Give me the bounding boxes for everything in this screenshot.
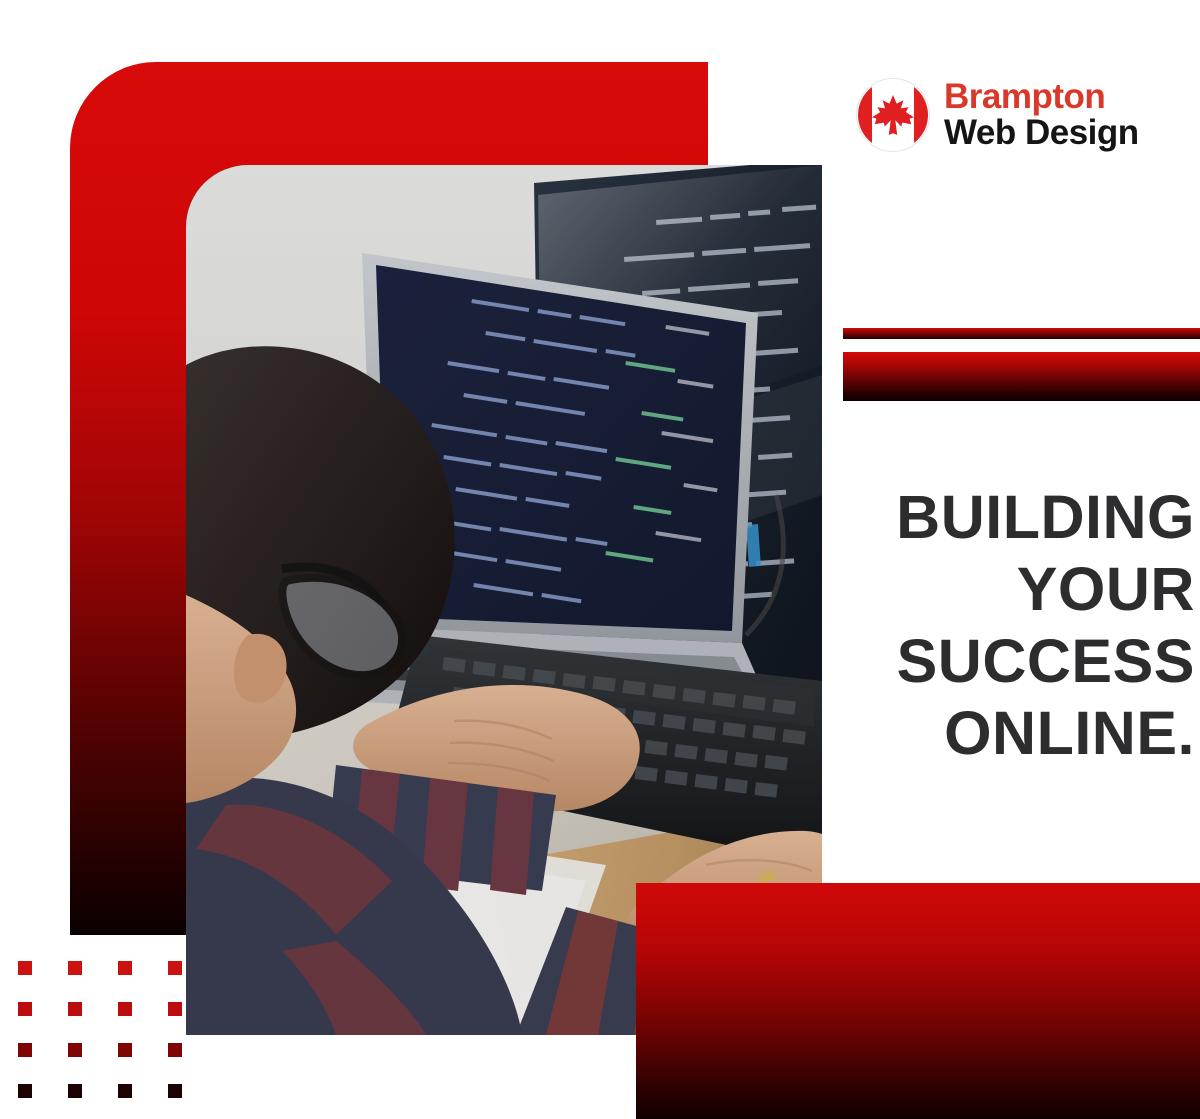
page-title: BUILDING YOUR SUCCESS ONLINE.: [790, 482, 1195, 770]
brand-wordmark: Brampton Web Design: [944, 79, 1139, 150]
grid-dot: [68, 961, 82, 975]
grid-dot: [18, 1084, 32, 1098]
grid-dot: [68, 1043, 82, 1057]
grid-dot: [118, 961, 132, 975]
red-corner-block: [636, 883, 1200, 1119]
headline-line-1: BUILDING: [790, 482, 1195, 554]
grid-dot: [18, 1043, 32, 1057]
grid-dot: [118, 1043, 132, 1057]
grid-dot: [18, 1002, 32, 1016]
thick-accent-bar: [843, 352, 1200, 401]
grid-dot: [68, 1084, 82, 1098]
grid-dot: [118, 1002, 132, 1016]
headline-line-2: YOUR: [790, 554, 1195, 626]
canada-flag-illustration: [857, 79, 929, 151]
grid-dot: [168, 1002, 182, 1016]
grid-dot: [18, 961, 32, 975]
grid-dot: [168, 1043, 182, 1057]
brand-logo[interactable]: Brampton Web Design: [856, 78, 1139, 152]
canada-flag-icon: [856, 78, 930, 152]
headline-line-4: ONLINE.: [790, 698, 1195, 770]
headline-line-3: SUCCESS: [790, 626, 1195, 698]
red-dot-grid: [18, 961, 218, 1119]
brand-name-secondary: Web Design: [944, 115, 1139, 151]
grid-dot: [168, 961, 182, 975]
grid-dot: [68, 1002, 82, 1016]
grid-dot: [118, 1084, 132, 1098]
poster-canvas: Brampton Web Design BUILDING YOUR SUCCES…: [0, 0, 1200, 1119]
brand-name-primary: Brampton: [944, 79, 1139, 115]
thin-accent-bar: [843, 328, 1200, 339]
grid-dot: [168, 1084, 182, 1098]
